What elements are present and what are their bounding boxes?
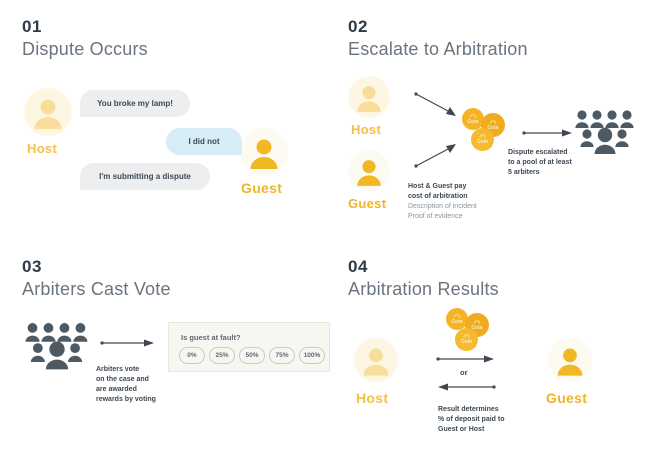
coin-stack: ◠Coin ◠Coin ◠Coin: [462, 108, 514, 156]
avatar-host-icon: [354, 338, 398, 382]
avatar-guest-label: Guest: [241, 180, 282, 196]
chat-bubble-host-2: I'm submitting a dispute: [80, 163, 210, 190]
caption-result-determines: Result determines % of deposit paid to G…: [438, 405, 505, 435]
step-number-04: 04: [348, 258, 368, 275]
avatar-guest-icon: [240, 128, 288, 176]
caption-evidence-line-1: Description of incident: [408, 202, 477, 212]
ballot-option-50[interactable]: 50%: [239, 347, 265, 364]
panel-step-03: 03 Arbiters Cast Vote: [0, 228, 326, 456]
coin-icon-3: ◠Coin: [471, 128, 494, 151]
chat-bubble-guest-1: I did not: [166, 128, 242, 155]
infographic-canvas: 01 Dispute Occurs Host Guest You broke m…: [0, 0, 652, 456]
step-title-02: Escalate to Arbitration: [348, 40, 528, 58]
caption-dispute-escalated: Dispute escalated to a pool of at least …: [508, 148, 572, 178]
avatar-host: [348, 76, 390, 118]
avatar-guest: [348, 150, 390, 192]
avatar-host-label: Host: [351, 122, 381, 137]
avatar-guest-label: Guest: [546, 390, 587, 406]
avatar-guest-icon: [348, 150, 390, 192]
arrow-host-to-coins: [414, 90, 458, 120]
coin-icon-3: ◠Coin: [455, 328, 478, 351]
avatar-host-label: Host: [356, 390, 388, 406]
coin-stack: ◠Coin ◠Coin ◠Coin: [446, 308, 498, 356]
step-number-03: 03: [22, 258, 42, 275]
step-title-04: Arbitration Results: [348, 280, 499, 298]
chat-bubble-host-1: You broke my lamp!: [80, 90, 190, 117]
avatar-guest-label: Guest: [348, 196, 386, 211]
arbiters-crowd-icon: [574, 108, 636, 156]
caption-evidence-line-2: Proof of evidence: [408, 212, 462, 222]
ballot-option-75[interactable]: 75%: [269, 347, 295, 364]
arbiters-crowd-icon: [24, 320, 90, 372]
arrow-guest-to-coins: [414, 140, 458, 170]
avatar-host-label: Host: [27, 141, 57, 156]
avatar-guest-icon: [548, 338, 592, 382]
panel-step-02: 02 Escalate to Arbitration Host Guest: [326, 0, 652, 228]
step-number-02: 02: [348, 18, 368, 35]
panel-step-01: 01 Dispute Occurs Host Guest You broke m…: [0, 0, 326, 228]
avatar-guest: [548, 338, 592, 382]
ballot-option-0[interactable]: 0%: [179, 347, 205, 364]
arrow-coins-to-arbiters: [522, 128, 574, 138]
arrow-payout-to-host: [436, 382, 496, 392]
caption-arbitration-cost: Host & Guest pay cost of arbitration: [408, 182, 468, 202]
avatar-host: [24, 88, 72, 136]
caption-arbiters-vote: Arbiters vote on the case and are awarde…: [96, 365, 156, 406]
ballot-options: 0% 25% 50% 75% 100%: [179, 347, 325, 364]
arrow-payout-to-guest: [436, 354, 496, 364]
or-label: or: [460, 368, 468, 377]
avatar-host: [354, 338, 398, 382]
step-number-01: 01: [22, 18, 42, 35]
arrow-arbiters-to-ballot: [100, 338, 156, 348]
panel-step-04: 04 Arbitration Results Host Guest ◠Coin: [326, 228, 652, 456]
ballot-option-100[interactable]: 100%: [299, 347, 325, 364]
avatar-guest: [240, 128, 288, 176]
ballot-question: Is guest at fault?: [181, 333, 241, 342]
avatar-host-icon: [24, 88, 72, 136]
step-title-03: Arbiters Cast Vote: [22, 280, 171, 298]
ballot-box: Is guest at fault? 0% 25% 50% 75% 100%: [168, 322, 330, 372]
ballot-option-25[interactable]: 25%: [209, 347, 235, 364]
step-title-01: Dispute Occurs: [22, 40, 148, 58]
avatar-host-icon: [348, 76, 390, 118]
